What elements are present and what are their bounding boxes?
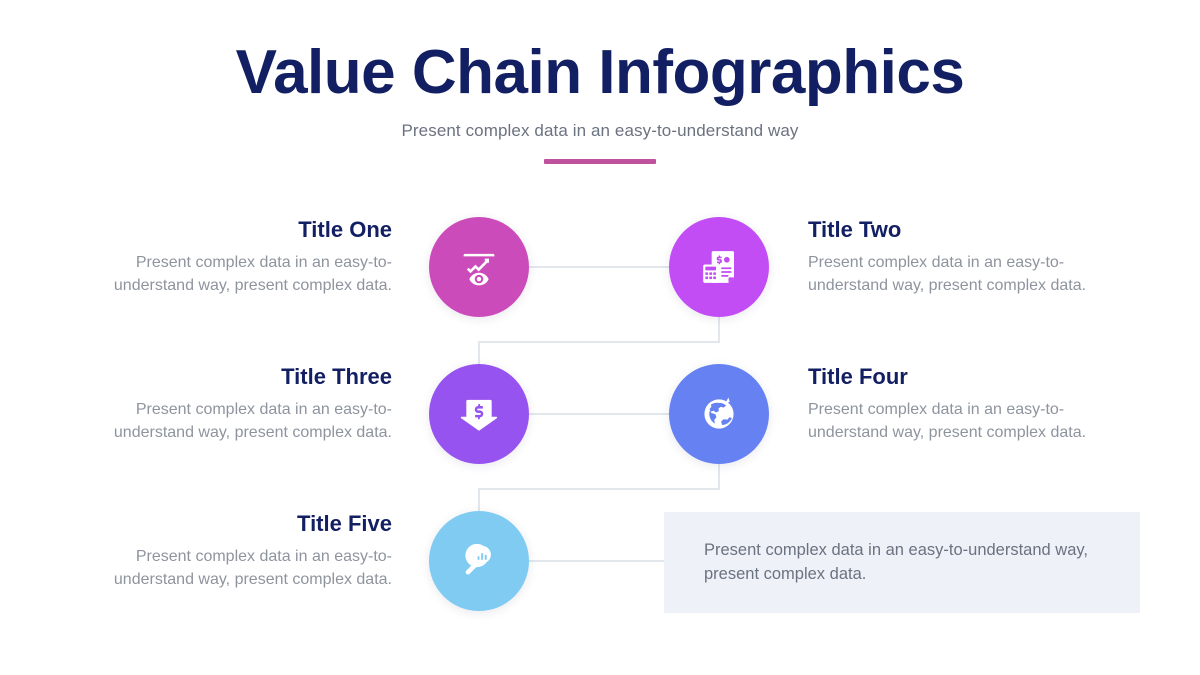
step-node-two[interactable]: [669, 217, 769, 317]
step-node-one[interactable]: [429, 217, 529, 317]
step-description-five: Present complex data in an easy-to-under…: [92, 546, 392, 591]
step-description-three: Present complex data in an easy-to-under…: [92, 399, 392, 444]
step-title-five: Title Five: [92, 512, 392, 536]
dollar-down-arrow-icon: [459, 394, 499, 434]
step-title-one: Title One: [92, 218, 392, 242]
step-text-four: Title Four Present complex data in an ea…: [808, 365, 1108, 445]
step-title-two: Title Two: [808, 218, 1108, 242]
step-title-three: Title Three: [92, 365, 392, 389]
step-node-three[interactable]: [429, 364, 529, 464]
step-text-three: Title Three Present complex data in an e…: [92, 365, 392, 445]
slide-header: Value Chain Infographics Present complex…: [0, 38, 1200, 164]
step-node-five[interactable]: [429, 511, 529, 611]
step-description-one: Present complex data in an easy-to-under…: [92, 252, 392, 297]
step-text-five: Title Five Present complex data in an ea…: [92, 512, 392, 592]
value-chain-diagram: Title One Present complex data in an eas…: [0, 190, 1200, 660]
step-description-four: Present complex data in an easy-to-under…: [808, 399, 1108, 444]
callout-panel: Present complex data in an easy-to-under…: [664, 512, 1140, 613]
page-title: Value Chain Infographics: [0, 38, 1200, 107]
accent-divider: [544, 159, 656, 164]
infographic-slide: Value Chain Infographics Present complex…: [0, 0, 1200, 675]
presentation-chart-eye-icon: [458, 246, 500, 288]
connector-four-to-five: [479, 464, 719, 511]
step-text-one: Title One Present complex data in an eas…: [92, 218, 392, 298]
globe-refresh-icon: [699, 394, 739, 434]
magnifier-bar-chart-icon: [459, 541, 499, 581]
callout-text: Present complex data in an easy-to-under…: [664, 539, 1140, 587]
step-text-two: Title Two Present complex data in an eas…: [808, 218, 1108, 298]
page-subtitle: Present complex data in an easy-to-under…: [0, 121, 1200, 141]
step-title-four: Title Four: [808, 365, 1108, 389]
invoice-calculator-icon: [699, 247, 739, 287]
step-node-four[interactable]: [669, 364, 769, 464]
connector-two-to-three: [479, 317, 719, 364]
step-description-two: Present complex data in an easy-to-under…: [808, 252, 1108, 297]
